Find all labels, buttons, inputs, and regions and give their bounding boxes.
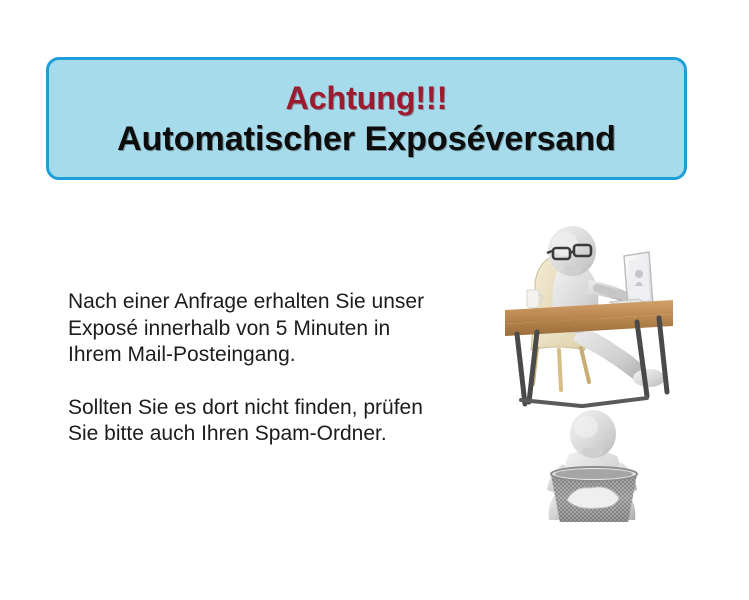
- attention-banner: Achtung!!! Automatischer Exposéversand: [46, 57, 687, 180]
- body-text-block: Nach einer Anfrage erhalten Sie unser Ex…: [68, 289, 498, 448]
- banner-headline-subject: Automatischer Exposéversand: [117, 119, 616, 159]
- text-line: Sie bitte auch Ihren Spam-Ordner.: [68, 421, 498, 448]
- illustration-group: [497, 222, 702, 522]
- slide-canvas: Achtung!!! Automatischer Exposéversand N…: [0, 0, 749, 600]
- text-line: Ihrem Mail-Posteingang.: [68, 342, 498, 369]
- banner-headline-warning: Achtung!!!: [286, 79, 448, 117]
- paragraph-delivery-info: Nach einer Anfrage erhalten Sie unser Ex…: [68, 289, 498, 369]
- text-line: Exposé innerhalb von 5 Minuten in: [68, 316, 498, 343]
- person-at-desk-with-laptop: [505, 226, 673, 406]
- laptop-icon: [609, 252, 655, 308]
- desk: [505, 300, 673, 406]
- text-line: Nach einer Anfrage erhalten Sie unser: [68, 289, 498, 316]
- paragraph-spam-hint: Sollten Sie es dort nicht finden, prüfen…: [68, 395, 498, 448]
- wastebasket-icon: [551, 467, 637, 522]
- text-line: Sollten Sie es dort nicht finden, prüfen: [68, 395, 498, 422]
- person-with-wastebasket: [547, 410, 641, 522]
